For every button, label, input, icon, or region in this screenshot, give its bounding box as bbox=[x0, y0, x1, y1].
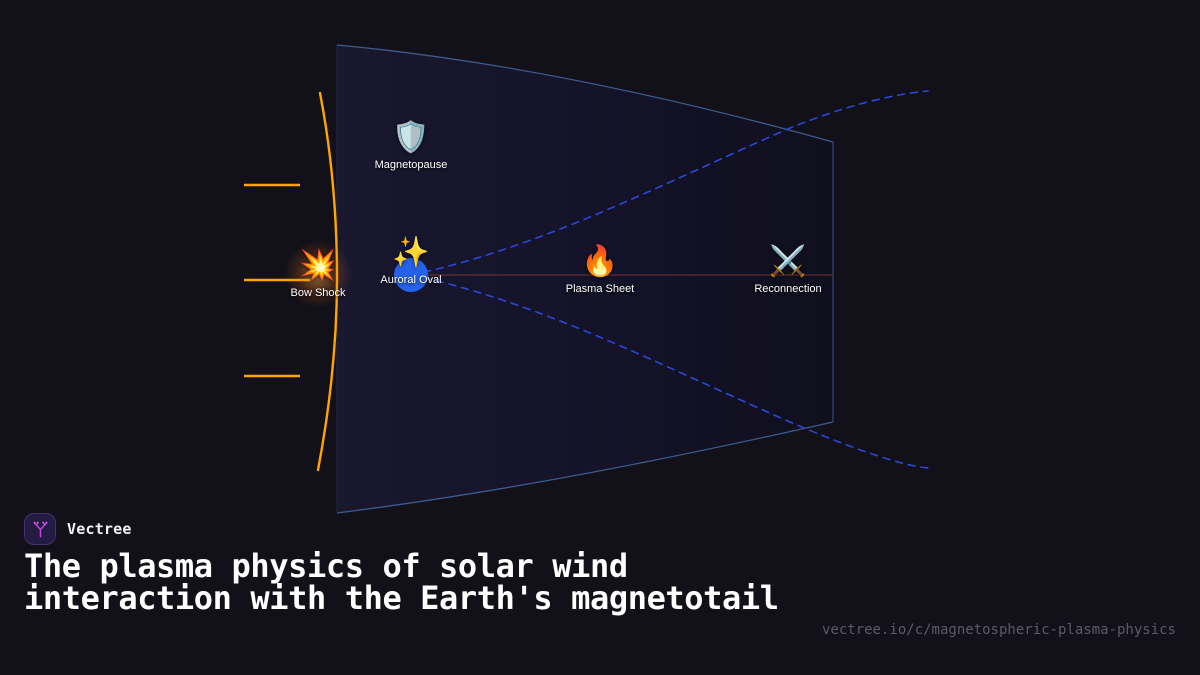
diagram-node-plasma-sheet[interactable]: 🔥 Plasma Sheet bbox=[566, 247, 634, 295]
source-url: vectree.io/c/magnetospheric-plasma-physi… bbox=[822, 622, 1176, 638]
screenshot-canvas: 💥 Bow Shock 🛡️ Magnetopause ✨ Auroral Ov… bbox=[0, 0, 1200, 675]
diagram-node-label: Bow Shock bbox=[290, 287, 345, 299]
magnetosphere-diagram: 💥 Bow Shock 🛡️ Magnetopause ✨ Auroral Ov… bbox=[0, 0, 1200, 520]
brand-name: Vectree bbox=[67, 520, 132, 538]
crossed-swords-icon: ⚔️ bbox=[769, 247, 806, 277]
diagram-node-reconnection[interactable]: ⚔️ Reconnection bbox=[754, 247, 821, 295]
vectree-tree-logo-icon bbox=[24, 513, 56, 545]
diagram-node-bow-shock[interactable]: 💥 Bow Shock bbox=[290, 251, 345, 299]
footer: Vectree The plasma physics of solar wind… bbox=[0, 500, 1200, 675]
shield-icon: 🛡️ bbox=[392, 123, 429, 153]
sparkles-icon: ✨ bbox=[392, 238, 429, 268]
diagram-node-label: Reconnection bbox=[754, 283, 821, 295]
diagram-node-label: Plasma Sheet bbox=[566, 283, 634, 295]
page-title: The plasma physics of solar wind interac… bbox=[24, 550, 784, 614]
fire-icon: 🔥 bbox=[581, 247, 618, 277]
diagram-node-label: Auroral Oval bbox=[380, 274, 441, 286]
diagram-node-magnetopause[interactable]: 🛡️ Magnetopause bbox=[375, 123, 448, 171]
brand-row[interactable]: Vectree bbox=[24, 513, 132, 545]
diagram-node-label: Magnetopause bbox=[375, 159, 448, 171]
collision-explosion-icon: 💥 bbox=[299, 251, 336, 281]
diagram-node-auroral-oval[interactable]: ✨ Auroral Oval bbox=[380, 238, 441, 286]
